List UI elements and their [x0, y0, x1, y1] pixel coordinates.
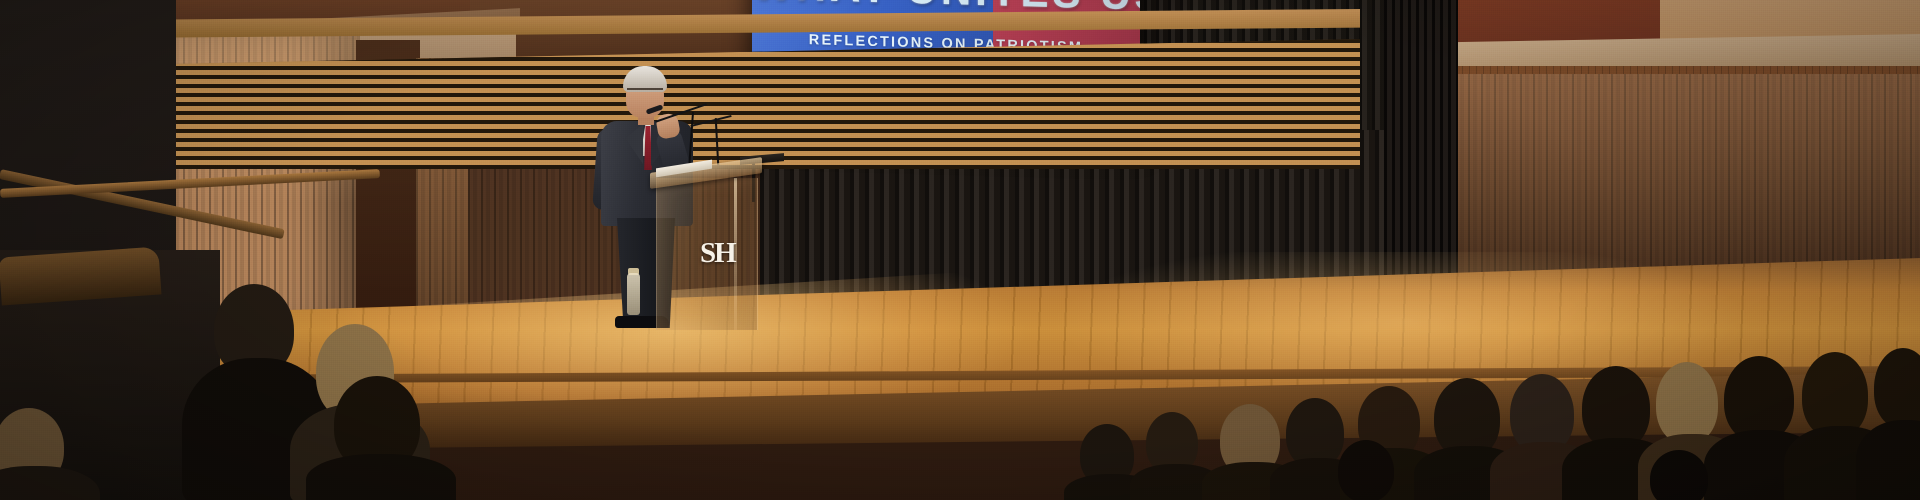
- auditorium-lecture-photo: WHAT UNITES US REFLECTIONS ON PATRIOTISM: [0, 0, 1920, 500]
- audience-group-right: [1090, 300, 1920, 500]
- audience-head: [1650, 450, 1708, 500]
- audience-group-left: [0, 300, 520, 500]
- black-backdrop-curtain-far-right: [1384, 0, 1458, 320]
- sam-houston-sh-logo: SH: [700, 239, 756, 268]
- audience-head: [1874, 348, 1920, 428]
- audience-shoulders: [0, 466, 100, 500]
- audience-head: [1656, 362, 1718, 444]
- audience-shoulders: [306, 454, 456, 500]
- audience-head: [1338, 440, 1394, 500]
- eyeglasses-icon: [627, 88, 663, 96]
- water-bottle: [627, 273, 640, 315]
- lectern-podium: SH: [650, 165, 762, 335]
